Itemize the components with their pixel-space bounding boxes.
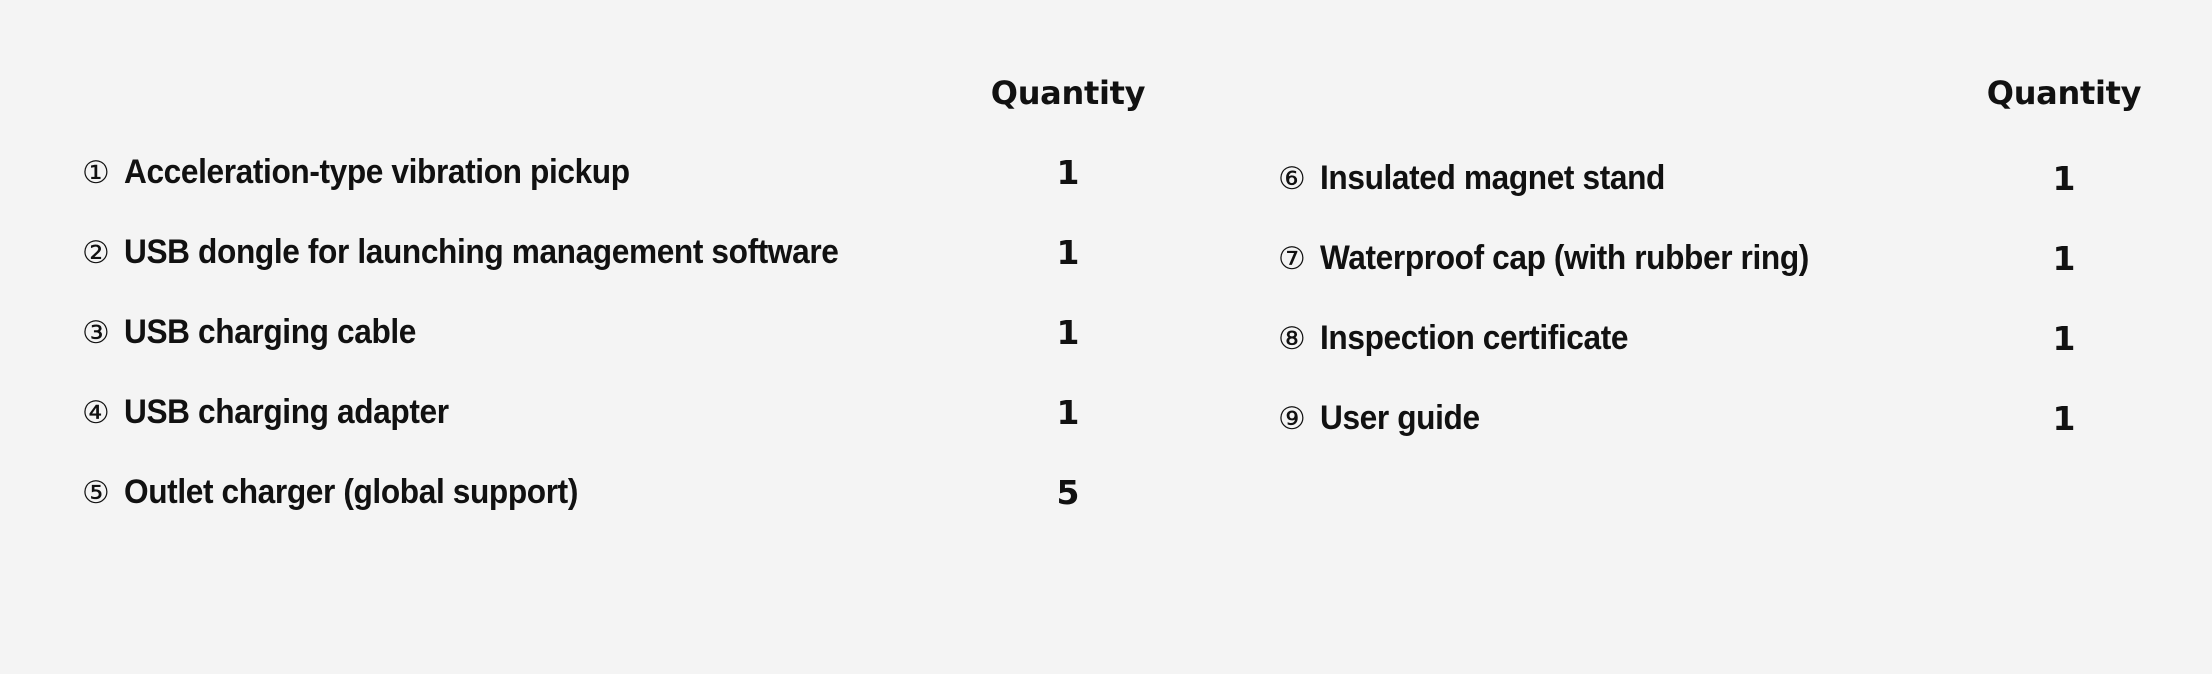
quantity-header-right: Quantity xyxy=(1984,74,2144,112)
item-marker-2: ② xyxy=(82,238,124,269)
list-item: ⑥ Insulated magnet stand xyxy=(1278,161,1691,195)
item-quantity-8: 1 xyxy=(1984,322,2144,355)
item-label-2: USB dongle for launching management soft… xyxy=(124,235,839,269)
item-label-7: Waterproof cap (with rubber ring) xyxy=(1320,241,1809,275)
item-marker-3: ③ xyxy=(82,318,124,349)
item-marker-8: ⑧ xyxy=(1278,324,1320,355)
item-label-5: Outlet charger (global support) xyxy=(124,475,578,509)
list-item: ⑧ Inspection certificate xyxy=(1278,321,1651,355)
item-marker-4: ④ xyxy=(82,398,124,429)
list-item: ① Acceleration-type vibration pickup xyxy=(82,155,668,189)
list-item: ⑦ Waterproof cap (with rubber ring) xyxy=(1278,241,1846,275)
list-item: ⑤ Outlet charger (global support) xyxy=(82,475,612,509)
quantity-header-left: Quantity xyxy=(988,74,1148,112)
item-quantity-3: 1 xyxy=(988,316,1148,349)
item-quantity-2: 1 xyxy=(988,236,1148,269)
item-label-8: Inspection certificate xyxy=(1320,321,1628,355)
item-marker-9: ⑨ xyxy=(1278,404,1320,435)
list-item: ② USB dongle for launching management so… xyxy=(82,235,892,269)
item-label-3: USB charging cable xyxy=(124,315,416,349)
item-quantity-7: 1 xyxy=(1984,242,2144,275)
item-quantity-4: 1 xyxy=(988,396,1148,429)
item-label-6: Insulated magnet stand xyxy=(1320,161,1665,195)
item-quantity-1: 1 xyxy=(988,156,1148,189)
item-quantity-5: 5 xyxy=(988,476,1148,509)
item-quantity-6: 1 xyxy=(1984,162,2144,195)
list-item: ④ USB charging adapter xyxy=(82,395,473,429)
list-item: ⑨ User guide xyxy=(1278,401,1492,435)
item-marker-1: ① xyxy=(82,158,124,189)
packing-list-sheet: Quantity ① Acceleration-type vibration p… xyxy=(0,0,2212,674)
item-label-4: USB charging adapter xyxy=(124,395,449,429)
item-quantity-9: 1 xyxy=(1984,402,2144,435)
list-item: ③ USB charging cable xyxy=(82,315,438,349)
item-marker-6: ⑥ xyxy=(1278,164,1320,195)
item-marker-5: ⑤ xyxy=(82,478,124,509)
item-marker-7: ⑦ xyxy=(1278,244,1320,275)
item-label-1: Acceleration-type vibration pickup xyxy=(124,155,630,189)
item-label-9: User guide xyxy=(1320,401,1480,435)
